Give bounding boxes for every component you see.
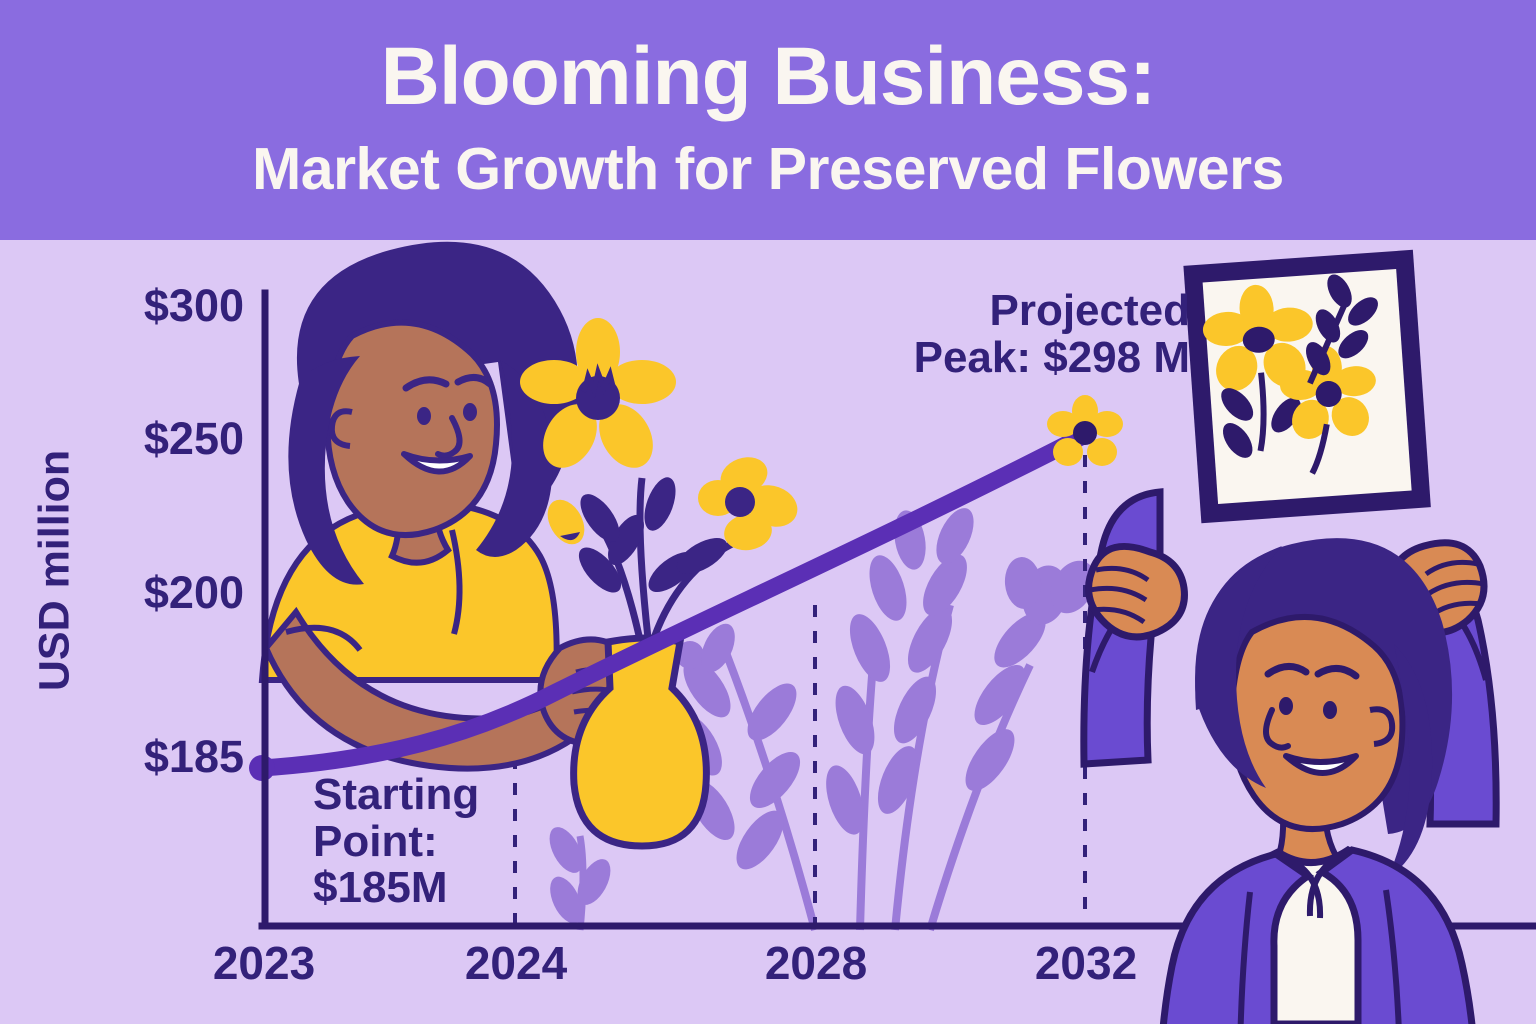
y-tick-300: $300 xyxy=(104,280,244,332)
chart-plot-area xyxy=(0,240,1536,1024)
infographic-canvas: Blooming Business: Market Growth for Pre… xyxy=(0,0,1536,1024)
page-title: Blooming Business: xyxy=(0,36,1536,118)
y-tick-200: $200 xyxy=(104,567,244,619)
annotation-peak-line1: Projected xyxy=(880,288,1190,335)
y-tick-250: $250 xyxy=(104,413,244,465)
y-tick-185: $185 xyxy=(104,731,244,783)
x-tick-2032: 2032 xyxy=(996,936,1176,990)
x-tick-2028: 2028 xyxy=(726,936,906,990)
annotation-start-line3: $185M xyxy=(313,865,543,912)
y-axis-title: USD million xyxy=(31,421,80,721)
annotation-starting-point: Starting Point: $185M xyxy=(313,772,543,912)
annotation-start-line2: Point: xyxy=(313,819,543,866)
x-tick-2024: 2024 xyxy=(426,936,606,990)
annotation-start-line1: Starting xyxy=(313,772,543,819)
header-band: Blooming Business: Market Growth for Pre… xyxy=(0,0,1536,240)
page-subtitle: Market Growth for Preserved Flowers xyxy=(0,140,1536,199)
annotation-projected-peak: Projected Peak: $298 M xyxy=(880,288,1190,381)
annotation-peak-line2: Peak: $298 M xyxy=(880,335,1190,382)
x-tick-2023: 2023 xyxy=(174,936,354,990)
